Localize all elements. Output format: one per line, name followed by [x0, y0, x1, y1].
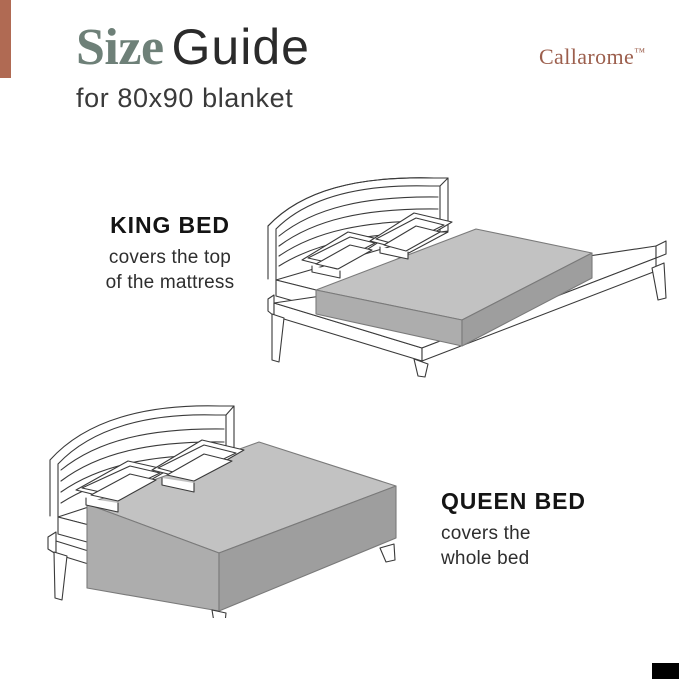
king-bed-caption: KING BED covers the top of the mattress	[58, 212, 282, 296]
brand-name: Callarome	[539, 44, 634, 69]
queen-bed-caption: QUEEN BED covers the whole bed	[441, 488, 661, 572]
page-subtitle: for 80x90 blanket	[76, 84, 656, 114]
queen-bed-description-line1: covers the	[441, 521, 661, 547]
queen-bed-title: QUEEN BED	[441, 488, 661, 516]
king-bed-description-line2: of the mattress	[58, 270, 282, 296]
king-bed-description-line1: covers the top	[58, 245, 282, 271]
king-bed-illustration	[262, 168, 672, 378]
queen-bed-description-line2: whole bed	[441, 546, 661, 572]
corner-mark	[652, 663, 679, 679]
brand-logo: Callarome™	[539, 44, 645, 70]
trademark-symbol: ™	[634, 47, 645, 59]
king-bed-title: KING BED	[58, 212, 282, 240]
page-title-primary: Size	[76, 19, 164, 76]
page-title-secondary: Guide	[172, 19, 310, 75]
accent-bar	[0, 0, 11, 78]
queen-bed-illustration	[44, 398, 444, 618]
